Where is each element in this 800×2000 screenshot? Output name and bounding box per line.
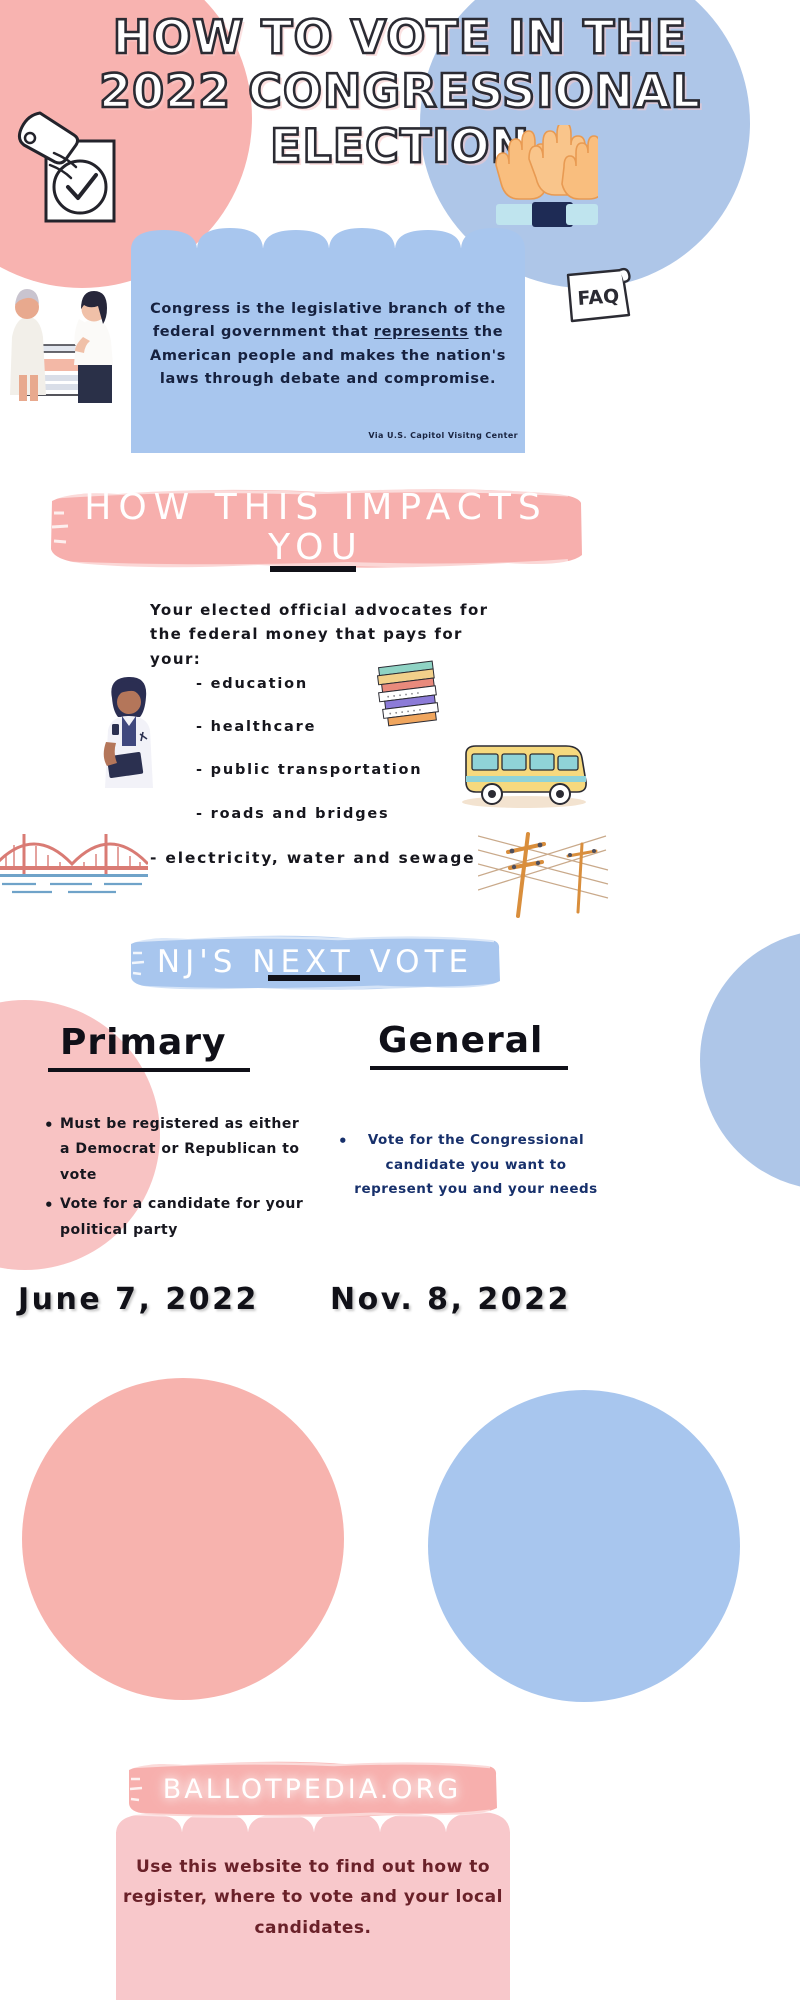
primary-heading: Primary — [60, 1022, 227, 1063]
title-line-1: HOW TO VOTE IN THE — [0, 10, 800, 64]
two-voters-icon — [4, 275, 122, 407]
impact-item: - electricity, water and sewage — [150, 849, 475, 867]
list-item: Vote for the Congressional candidate you… — [338, 1128, 600, 1202]
banner-impacts-label: HOW THIS IMPACTS YOU — [48, 488, 584, 567]
raised-hands-icon — [490, 125, 598, 231]
list-item: Vote for a candidate for your political … — [44, 1192, 304, 1243]
banner-ballotpedia[interactable]: BALLOTPEDIA.ORG — [126, 1758, 498, 1820]
faq-note-icon: FAQ — [562, 265, 636, 331]
impacts-intro-text: Your elected official advocates for the … — [150, 598, 520, 671]
suspension-bridge-icon — [0, 812, 148, 904]
banner-ballotpedia-label: BALLOTPEDIA.ORG — [163, 1774, 461, 1805]
congress-text-emphasis: represents — [374, 324, 469, 340]
congress-description-text: Congress is the legislative branch of th… — [145, 298, 511, 392]
doctor-woman-icon — [92, 672, 166, 792]
banner-how-this-impacts-you: HOW THIS IMPACTS YOU — [48, 483, 584, 573]
stack-of-books-icon — [374, 658, 446, 734]
banner-nj-next-vote: NJ'S NEXT VOTE — [128, 931, 502, 993]
impact-item: - public transportation — [196, 762, 422, 778]
general-circle-background — [428, 1390, 740, 1702]
impacts-you-underline — [270, 566, 356, 572]
ballot-box-hand-icon — [10, 95, 122, 229]
congress-source-credit: Via U.S. Capitol Visitng Center — [260, 431, 518, 440]
impact-item: - education — [196, 676, 308, 692]
primary-heading-underline — [48, 1068, 250, 1072]
impact-item: - healthcare — [196, 719, 316, 735]
general-heading-underline — [370, 1066, 568, 1070]
school-bus-icon — [456, 738, 592, 816]
list-item: Must be registered as either a Democrat … — [44, 1112, 304, 1188]
primary-election-date: June 7, 2022 — [18, 1282, 259, 1317]
decorative-blue-circle-mid — [700, 930, 800, 1190]
infographic-page: HOW TO VOTE IN THE 2022 CONGRESSIONAL EL… — [0, 0, 800, 2000]
general-bullet-list: Vote for the Congressional candidate you… — [338, 1128, 600, 1206]
primary-circle-background — [22, 1378, 344, 1700]
svg-text:FAQ: FAQ — [577, 285, 620, 310]
power-lines-icon — [478, 816, 610, 924]
general-election-date: Nov. 8, 2022 — [330, 1282, 571, 1317]
primary-bullet-list: Must be registered as either a Democrat … — [44, 1112, 304, 1247]
footer-instruction-text: Use this website to find out how to regi… — [118, 1852, 508, 1943]
njvote-next-underline — [268, 975, 360, 981]
general-heading: General — [378, 1020, 543, 1061]
impact-item: - roads and bridges — [196, 806, 389, 822]
